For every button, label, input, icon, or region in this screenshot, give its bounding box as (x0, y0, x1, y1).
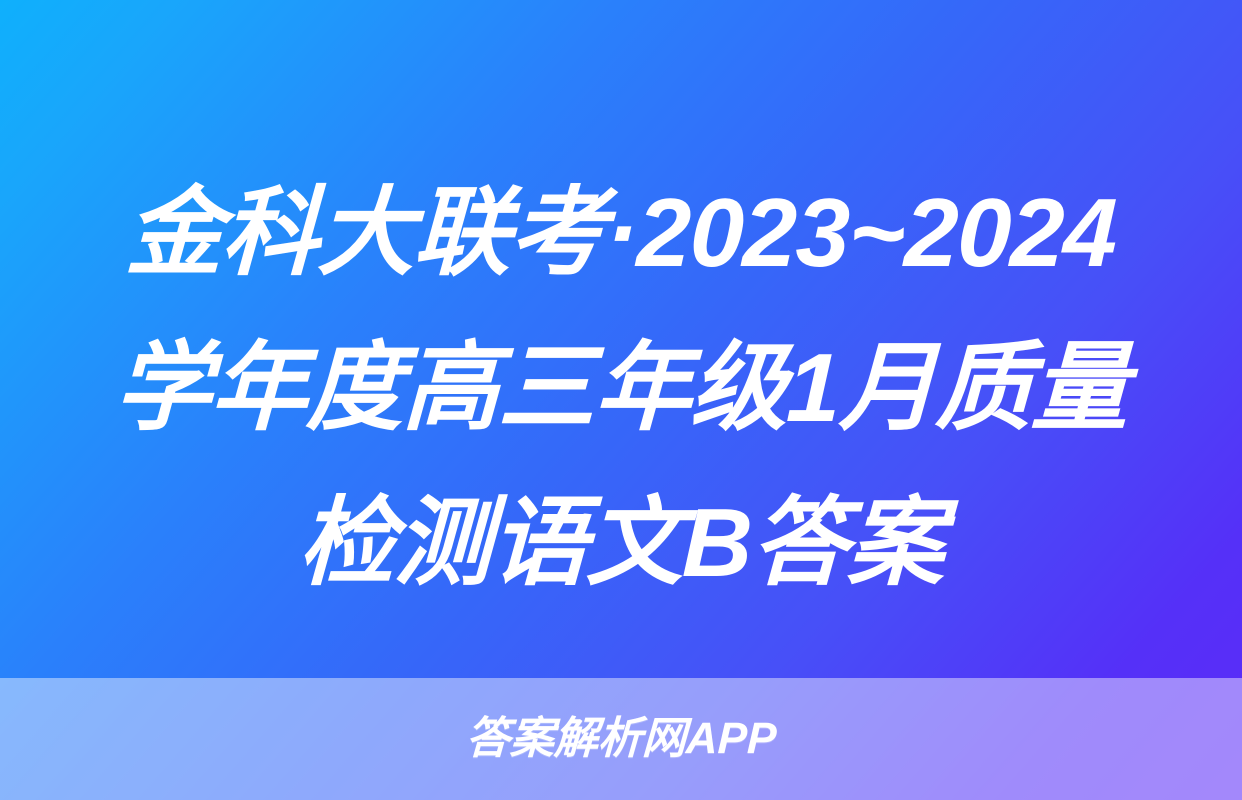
page-title: 金科大联考·2023~2024 学年度高三年级1月质量 检测语文B答案 (0, 155, 1242, 620)
cover-card: 金科大联考·2023~2024 学年度高三年级1月质量 检测语文B答案 答案解析… (0, 0, 1242, 800)
title-line-1: 金科大联考·2023~2024 (44, 155, 1198, 310)
watermark-band: 答案解析网APP (0, 678, 1242, 800)
title-line-2: 学年度高三年级1月质量 (44, 310, 1198, 465)
watermark-label: 答案解析网APP (465, 717, 777, 761)
title-line-3: 检测语文B答案 (44, 465, 1198, 620)
